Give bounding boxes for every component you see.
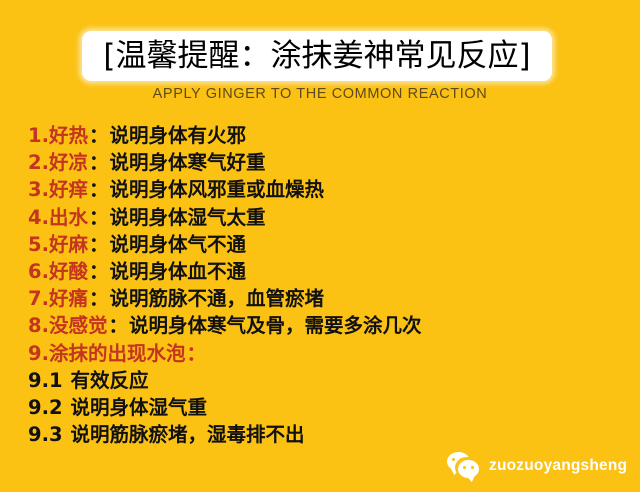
list-item-value: 说明身体血不通 <box>110 260 247 283</box>
list-item-key: 6.好酸 <box>28 260 88 283</box>
list-item-separator: ： <box>88 178 110 201</box>
list-subitem-value: 说明筋脉瘀堵，湿毒排不出 <box>71 423 305 446</box>
list-item: 8.没感觉：说明身体寒气及骨，需要多涂几次 <box>28 312 628 339</box>
wechat-handle: zuozuoyangsheng <box>489 457 627 475</box>
poster-header: [温馨提醒：涂抹姜神常见反应] APPLY GINGER TO THE COMM… <box>0 0 640 112</box>
list-item-key: 8.没感觉 <box>28 314 107 337</box>
list-subitem-key: 9.3 <box>28 423 63 446</box>
list-item: 4.出水：说明身体湿气太重 <box>28 204 628 231</box>
list-item-key: 2.好凉 <box>28 151 88 174</box>
list-item-separator: ： <box>107 314 129 337</box>
list-subitem: 9.2说明身体湿气重 <box>28 394 628 421</box>
wechat-dot <box>463 466 466 469</box>
wechat-bubble-front <box>458 460 479 478</box>
poster-canvas: [温馨提醒：涂抹姜神常见反应] APPLY GINGER TO THE COMM… <box>0 0 640 492</box>
list-item-value: 说明身体寒气及骨，需要多涂几次 <box>129 314 422 337</box>
list-item: 2.好凉：说明身体寒气好重 <box>28 149 628 176</box>
page-subtitle: APPLY GINGER TO THE COMMON REACTION <box>0 86 640 102</box>
list-item: 9.涂抹的出现水泡： <box>28 340 628 367</box>
list-item-separator: ： <box>88 233 110 256</box>
list-item-value: 说明身体气不通 <box>110 233 247 256</box>
reaction-list: 1.好热：说明身体有火邪 2.好凉：说明身体寒气好重 3.好痒：说明身体风邪重或… <box>28 122 628 448</box>
list-item: 3.好痒：说明身体风邪重或血燥热 <box>28 176 628 203</box>
list-item-key: 4.出水 <box>28 206 88 229</box>
list-subitem-key: 9.1 <box>28 369 63 392</box>
wechat-icon <box>447 452 481 480</box>
list-item-key: 3.好痒 <box>28 178 88 201</box>
list-subitem-key: 9.2 <box>28 396 63 419</box>
list-item-separator: ： <box>88 206 110 229</box>
title-banner: [温馨提醒：涂抹姜神常见反应] <box>82 31 552 81</box>
page-title: [温馨提醒：涂抹姜神常见反应] <box>82 31 552 81</box>
list-item: 1.好热：说明身体有火邪 <box>28 122 628 149</box>
list-subitem: 9.3说明筋脉瘀堵，湿毒排不出 <box>28 421 628 448</box>
list-item-separator: ： <box>88 260 110 283</box>
list-item-key: 7.好痛 <box>28 287 88 310</box>
list-subitem-value: 有效反应 <box>71 369 149 392</box>
list-item-value: 说明身体湿气太重 <box>110 206 266 229</box>
list-item: 5.好麻：说明身体气不通 <box>28 231 628 258</box>
list-item-value: 说明筋脉不通，血管瘀堵 <box>110 287 325 310</box>
wechat-dot <box>471 466 474 469</box>
list-item-value: 说明身体风邪重或血燥热 <box>110 178 325 201</box>
wechat-dot <box>460 458 463 461</box>
list-item-value: 说明身体寒气好重 <box>110 151 266 174</box>
list-item-key: 9.涂抹的出现水泡 <box>28 342 185 365</box>
wechat-dot <box>452 458 455 461</box>
list-item-separator: ： <box>88 151 110 174</box>
footer-branding: zuozuoyangsheng <box>447 446 627 486</box>
list-item-separator: ： <box>88 124 110 147</box>
list-item-key: 5.好麻 <box>28 233 88 256</box>
list-item-separator: ： <box>88 287 110 310</box>
list-item-value: 说明身体有火邪 <box>110 124 247 147</box>
list-item: 7.好痛：说明筋脉不通，血管瘀堵 <box>28 285 628 312</box>
list-item-key: 1.好热 <box>28 124 88 147</box>
list-subitem-value: 说明身体湿气重 <box>71 396 208 419</box>
list-subitem: 9.1有效反应 <box>28 367 628 394</box>
list-item-separator: ： <box>185 342 207 365</box>
list-item: 6.好酸：说明身体血不通 <box>28 258 628 285</box>
